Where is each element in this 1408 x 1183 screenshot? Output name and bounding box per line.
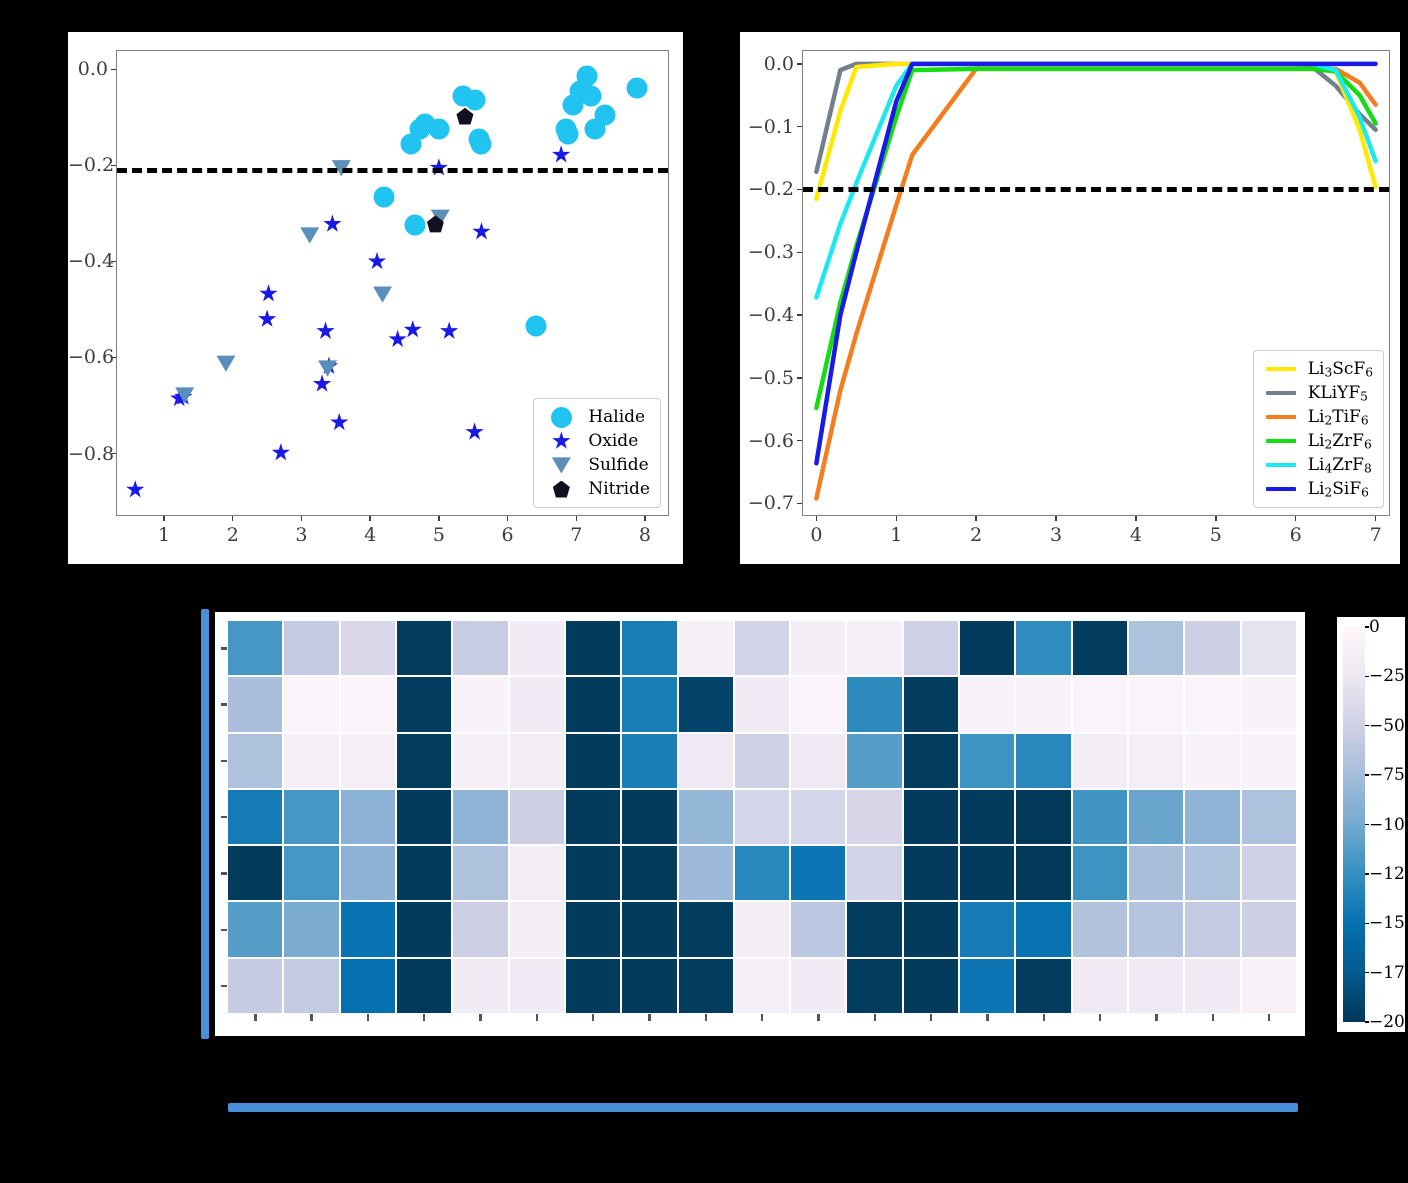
heatmap-cell — [565, 958, 621, 1014]
heatmap-cell — [790, 958, 846, 1014]
heatmap-cell — [452, 789, 508, 845]
colorbar-tick: −50 — [1369, 716, 1405, 736]
heatmap-cell — [1015, 958, 1071, 1014]
heatmap-x-axis-title — [228, 1103, 1298, 1112]
heatmap-cell — [1015, 676, 1071, 732]
lineplot-x-tick: 0 — [810, 524, 822, 546]
heatmap-cell — [227, 620, 283, 676]
scatter-y-tick: 0.0 — [68, 58, 108, 80]
legend-item-sulfide[interactable]: Sulfide — [544, 453, 650, 477]
legend-label: Halide — [588, 407, 645, 427]
heatmap-cell — [846, 620, 902, 676]
heatmap-cell — [1241, 789, 1297, 845]
lineplot-y-tick: −0.3 — [740, 241, 794, 263]
heatmap-cell — [1241, 901, 1297, 957]
lineplot-y-tick: −0.2 — [740, 178, 794, 200]
heatmap-cell — [283, 620, 339, 676]
heatmap-cell — [734, 958, 790, 1014]
heatmap-cell — [340, 676, 396, 732]
heatmap-cell — [340, 620, 396, 676]
heatmap-cell — [734, 620, 790, 676]
colorbar-tickmark — [1365, 725, 1369, 726]
heatmap-y-tickmark — [221, 816, 227, 818]
colorbar-tickmark — [1365, 972, 1369, 973]
heatmap-cell — [509, 958, 565, 1014]
scatter-x-tick: 4 — [364, 524, 376, 546]
colorbar-tick: −100 — [1369, 815, 1408, 835]
heatmap-cell — [1184, 789, 1240, 845]
panel-a-scatter: 0.0−0.2−0.4−0.6−0.8 12345678 HalideOxide… — [68, 32, 683, 564]
scatter-x-tick: 8 — [639, 524, 651, 546]
heatmap-x-tickmark — [423, 1014, 425, 1021]
heatmap-cell — [734, 789, 790, 845]
heatmap-cell — [452, 620, 508, 676]
panel-b-lineplot: 0.0−0.1−0.2−0.3−0.4−0.5−0.6−0.7 01234567… — [740, 32, 1400, 564]
heatmap-cell — [1015, 789, 1071, 845]
heatmap-cell — [452, 676, 508, 732]
heatmap-cell — [678, 733, 734, 789]
colorbar-tickmark — [1365, 873, 1369, 874]
lineplot-y-tick: −0.1 — [740, 116, 794, 138]
lineplot-y-tick: −0.6 — [740, 430, 794, 452]
heatmap-cell — [621, 676, 677, 732]
scatter-x-tickmark — [438, 516, 439, 521]
scatter-x-tickmark — [507, 516, 508, 521]
scatter-x-tickmark — [163, 516, 164, 521]
colorbar-tickmark — [1365, 1021, 1369, 1022]
line-swatch-icon — [1264, 463, 1298, 467]
heatmap-cell — [283, 789, 339, 845]
colorbar-tick: −125 — [1369, 864, 1408, 884]
scatter-x-tickmark — [232, 516, 233, 521]
heatmap-cell — [1128, 733, 1184, 789]
lineplot-threshold-line — [803, 187, 1389, 192]
scatter-x-tick: 7 — [570, 524, 582, 546]
heatmap-cell — [790, 845, 846, 901]
scatter-x-tickmark — [644, 516, 645, 521]
circle-icon — [544, 407, 578, 428]
heatmap-cell — [283, 733, 339, 789]
lineplot-x-tickmark — [975, 516, 976, 521]
lineplot-y-tick: −0.7 — [740, 492, 794, 514]
heatmap-y-tickmark — [221, 703, 227, 705]
heatmap-y-tickmark — [221, 929, 227, 931]
heatmap-cell — [283, 901, 339, 957]
scatter-x-tick: 3 — [295, 524, 307, 546]
scatter-marker-halide — [471, 133, 492, 154]
heatmap-cell — [678, 676, 734, 732]
heatmap-cell — [1184, 620, 1240, 676]
legend-label: Li2TiF6 — [1308, 407, 1369, 428]
heatmap-cell — [790, 789, 846, 845]
panel-c-heatmap — [215, 612, 1305, 1036]
heatmap-cell — [1072, 676, 1128, 732]
heatmap-cell — [396, 676, 452, 732]
heatmap-cell — [1128, 620, 1184, 676]
scatter-x-tick: 1 — [158, 524, 170, 546]
heatmap-cell — [565, 620, 621, 676]
heatmap-cell — [340, 845, 396, 901]
scatter-x-tickmark — [369, 516, 370, 521]
star-icon — [544, 432, 578, 451]
colorbar-tick: −175 — [1369, 963, 1408, 983]
heatmap-cell — [1241, 733, 1297, 789]
heatmap-x-tickmark — [761, 1014, 763, 1021]
heatmap-y-tickmark — [221, 647, 227, 649]
heatmap-cell — [509, 845, 565, 901]
heatmap-x-tickmark — [1155, 1014, 1157, 1021]
heatmap-cell — [1241, 958, 1297, 1014]
heatmap-cell — [452, 733, 508, 789]
heatmap-cell — [846, 789, 902, 845]
scatter-legend: HalideOxideSulfideNitride — [533, 398, 661, 508]
scatter-marker-halide — [558, 124, 579, 145]
heatmap-x-tickmark — [817, 1014, 819, 1021]
scatter-marker-halide — [428, 119, 449, 140]
heatmap-x-tickmark — [986, 1014, 988, 1021]
scatter-y-tick: −0.6 — [68, 346, 108, 368]
heatmap-cell — [227, 958, 283, 1014]
line-swatch-icon — [1264, 415, 1298, 419]
heatmap-x-tickmark — [1043, 1014, 1045, 1021]
heatmap-cell — [1072, 733, 1128, 789]
heatmap-cell — [1072, 958, 1128, 1014]
heatmap-cell — [1241, 845, 1297, 901]
lineplot-x-tick: 5 — [1210, 524, 1222, 546]
heatmap-cell — [1184, 901, 1240, 957]
heatmap-x-tickmark — [648, 1014, 650, 1021]
heatmap-cell — [734, 676, 790, 732]
heatmap-cell — [790, 620, 846, 676]
heatmap-x-tickmark — [310, 1014, 312, 1021]
legend-item-halide[interactable]: Halide — [544, 405, 650, 429]
legend-item-li2tif6[interactable]: Li2TiF6 — [1264, 405, 1373, 429]
heatmap-cell — [903, 676, 959, 732]
lineplot-x-tickmark — [896, 516, 897, 521]
heatmap-cell — [959, 733, 1015, 789]
heatmap-cell — [509, 676, 565, 732]
heatmap-cell — [678, 789, 734, 845]
heatmap-cell — [1128, 901, 1184, 957]
lineplot-x-tickmark — [1375, 516, 1376, 521]
heatmap-cell — [1184, 676, 1240, 732]
scatter-marker-halide — [595, 104, 616, 125]
heatmap-cell — [903, 789, 959, 845]
heatmap-y-tickmark — [221, 760, 227, 762]
heatmap-cell — [396, 789, 452, 845]
scatter-y-tickmark — [111, 261, 116, 262]
heatmap-cell — [1015, 845, 1071, 901]
heatmap-cell — [846, 901, 902, 957]
heatmap-x-tickmark — [254, 1014, 256, 1021]
heatmap-cell — [903, 958, 959, 1014]
heatmap-cell — [678, 620, 734, 676]
scatter-marker-halide — [404, 215, 425, 236]
heatmap-cell — [1072, 845, 1128, 901]
heatmap-cell — [283, 676, 339, 732]
heatmap-cell — [621, 789, 677, 845]
heatmap-cell — [959, 958, 1015, 1014]
heatmap-cell — [734, 901, 790, 957]
lineplot-x-tickmark — [1215, 516, 1216, 521]
legend-item-li3scf6[interactable]: Li3ScF6 — [1264, 357, 1373, 381]
legend-item-li2sif6[interactable]: Li2SiF6 — [1264, 477, 1373, 501]
legend-label: Li2SiF6 — [1308, 479, 1369, 500]
heatmap-x-tickmark — [1268, 1014, 1270, 1021]
legend-label: Oxide — [588, 431, 638, 451]
legend-label: Nitride — [588, 479, 650, 499]
heatmap-cell — [1184, 958, 1240, 1014]
line-swatch-icon — [1264, 391, 1298, 395]
heatmap-x-tickmark — [1099, 1014, 1101, 1021]
heatmap-cell — [227, 676, 283, 732]
heatmap-cell — [396, 901, 452, 957]
scatter-y-tickmark — [111, 357, 116, 358]
heatmap-cell — [227, 901, 283, 957]
legend-item-oxide[interactable]: Oxide — [544, 429, 650, 453]
heatmap-cell — [1015, 733, 1071, 789]
colorbar-tickmark — [1365, 824, 1369, 825]
lineplot-x-tickmark — [1055, 516, 1056, 521]
lineplot-x-tick: 3 — [1050, 524, 1062, 546]
colorbar-tick: −150 — [1369, 913, 1408, 933]
legend-item-kliyf5[interactable]: KLiYF5 — [1264, 381, 1373, 405]
pentagon-icon — [544, 481, 578, 498]
heatmap-cell — [227, 845, 283, 901]
heatmap-cell — [1072, 901, 1128, 957]
heatmap-cell — [396, 620, 452, 676]
scatter-y-tickmark — [111, 165, 116, 166]
scatter-x-tickmark — [576, 516, 577, 521]
heatmap-cell — [1072, 789, 1128, 845]
scatter-marker-halide — [526, 316, 547, 337]
heatmap-cell — [903, 901, 959, 957]
heatmap-cell — [283, 958, 339, 1014]
legend-label: Sulfide — [588, 455, 648, 475]
heatmap-cell — [565, 733, 621, 789]
heatmap-cell — [903, 845, 959, 901]
heatmap-cell — [621, 845, 677, 901]
scatter-marker-halide — [373, 186, 394, 207]
triangle-icon — [544, 456, 578, 475]
heatmap-y-axis-title — [201, 609, 209, 1039]
scatter-marker-halide — [464, 90, 485, 111]
heatmap-colorbar: 0−25−50−75−100−125−150−175−200 — [1337, 617, 1405, 1032]
heatmap-cell — [790, 733, 846, 789]
heatmap-cell — [846, 733, 902, 789]
heatmap-cell — [1015, 620, 1071, 676]
heatmap-cell — [565, 676, 621, 732]
legend-label: Li3ScF6 — [1308, 359, 1373, 380]
heatmap-cell — [734, 845, 790, 901]
heatmap-cell — [846, 845, 902, 901]
heatmap-grid — [227, 620, 1297, 1014]
scatter-y-tick: −0.4 — [68, 250, 108, 272]
legend-label: KLiYF5 — [1308, 383, 1368, 404]
heatmap-cell — [1128, 845, 1184, 901]
line-swatch-icon — [1264, 367, 1298, 371]
colorbar-tick: −25 — [1369, 666, 1405, 686]
heatmap-cell — [452, 845, 508, 901]
heatmap-cell — [1241, 620, 1297, 676]
lineplot-y-tick: −0.5 — [740, 367, 794, 389]
heatmap-cell — [340, 901, 396, 957]
heatmap-cell — [903, 620, 959, 676]
lineplot-x-tick: 2 — [970, 524, 982, 546]
colorbar-tickmark — [1365, 676, 1369, 677]
scatter-x-tickmark — [301, 516, 302, 521]
lineplot-x-tickmark — [1295, 516, 1296, 521]
lineplot-x-tick: 6 — [1290, 524, 1302, 546]
colorbar-tickmark — [1365, 626, 1369, 627]
heatmap-cell — [1184, 845, 1240, 901]
heatmap-cell — [227, 789, 283, 845]
heatmap-cell — [959, 901, 1015, 957]
scatter-y-tickmark — [111, 69, 116, 70]
heatmap-cell — [678, 901, 734, 957]
heatmap-cell — [1128, 676, 1184, 732]
heatmap-cell — [846, 676, 902, 732]
lineplot-y-tick: 0.0 — [740, 53, 794, 75]
scatter-y-tick: −0.8 — [68, 443, 108, 465]
heatmap-cell — [396, 733, 452, 789]
legend-item-li2zrf6[interactable]: Li2ZrF6 — [1264, 429, 1373, 453]
heatmap-cell — [509, 620, 565, 676]
scatter-x-tick: 2 — [227, 524, 239, 546]
heatmap-cell — [959, 789, 1015, 845]
heatmap-cell — [565, 789, 621, 845]
heatmap-cell — [959, 676, 1015, 732]
heatmap-x-tickmark — [1212, 1014, 1214, 1021]
heatmap-cell — [340, 958, 396, 1014]
heatmap-cell — [846, 958, 902, 1014]
colorbar-tick: −200 — [1369, 1012, 1408, 1032]
heatmap-cell — [621, 901, 677, 957]
heatmap-cell — [452, 958, 508, 1014]
heatmap-cell — [1015, 901, 1071, 957]
heatmap-cell — [1128, 958, 1184, 1014]
colorbar-tickmark — [1365, 923, 1369, 924]
heatmap-x-tickmark — [479, 1014, 481, 1021]
heatmap-cell — [903, 733, 959, 789]
legend-label: Li2ZrF6 — [1308, 431, 1372, 452]
heatmap-cell — [621, 958, 677, 1014]
scatter-marker-halide — [626, 78, 647, 99]
colorbar-tick: 0 — [1369, 617, 1380, 637]
heatmap-x-tickmark — [536, 1014, 538, 1021]
heatmap-cell — [565, 901, 621, 957]
legend-label: Li4ZrF8 — [1308, 455, 1372, 476]
scatter-marker-halide — [581, 85, 602, 106]
heatmap-cell — [959, 620, 1015, 676]
heatmap-cell — [227, 733, 283, 789]
colorbar-tick: −75 — [1369, 765, 1405, 785]
lineplot-x-tick: 4 — [1130, 524, 1142, 546]
heatmap-cell — [959, 845, 1015, 901]
heatmap-cell — [565, 845, 621, 901]
heatmap-cell — [452, 901, 508, 957]
heatmap-cell — [1241, 676, 1297, 732]
heatmap-x-tickmark — [367, 1014, 369, 1021]
heatmap-cell — [1072, 620, 1128, 676]
heatmap-cell — [509, 901, 565, 957]
legend-item-li4zrf8[interactable]: Li4ZrF8 — [1264, 453, 1373, 477]
heatmap-cell — [678, 845, 734, 901]
heatmap-cell — [1128, 789, 1184, 845]
colorbar-tickmark — [1365, 774, 1369, 775]
heatmap-x-tickmark — [874, 1014, 876, 1021]
heatmap-cell — [1184, 733, 1240, 789]
heatmap-cell — [340, 733, 396, 789]
heatmap-y-tickmark — [221, 985, 227, 987]
lineplot-y-tick: −0.4 — [740, 304, 794, 326]
lineplot-x-tick: 1 — [890, 524, 902, 546]
heatmap-cell — [396, 958, 452, 1014]
heatmap-cell — [340, 789, 396, 845]
lineplot-x-tick: 7 — [1370, 524, 1382, 546]
scatter-threshold-line — [117, 168, 668, 173]
heatmap-cell — [790, 676, 846, 732]
scatter-y-tickmark — [111, 453, 116, 454]
heatmap-x-tickmark — [930, 1014, 932, 1021]
scatter-y-tick: −0.2 — [68, 154, 108, 176]
legend-item-nitride[interactable]: Nitride — [544, 477, 650, 501]
heatmap-cell — [396, 845, 452, 901]
heatmap-x-tickmark — [705, 1014, 707, 1021]
heatmap-cell — [621, 733, 677, 789]
heatmap-y-tickmark — [221, 872, 227, 874]
scatter-marker-halide — [576, 66, 597, 87]
lineplot-legend: Li3ScF6KLiYF5Li2TiF6Li2ZrF6Li4ZrF8Li2SiF… — [1253, 350, 1384, 508]
heatmap-cell — [678, 958, 734, 1014]
heatmap-cell — [734, 733, 790, 789]
line-swatch-icon — [1264, 439, 1298, 443]
heatmap-cell — [509, 733, 565, 789]
scatter-x-tick: 6 — [502, 524, 514, 546]
lineplot-x-tickmark — [816, 516, 817, 521]
heatmap-x-tickmark — [592, 1014, 594, 1021]
heatmap-cell — [621, 620, 677, 676]
scatter-x-tick: 5 — [433, 524, 445, 546]
line-swatch-icon — [1264, 487, 1298, 491]
lineplot-x-tickmark — [1135, 516, 1136, 521]
heatmap-cell — [790, 901, 846, 957]
heatmap-cell — [509, 789, 565, 845]
heatmap-cell — [283, 845, 339, 901]
